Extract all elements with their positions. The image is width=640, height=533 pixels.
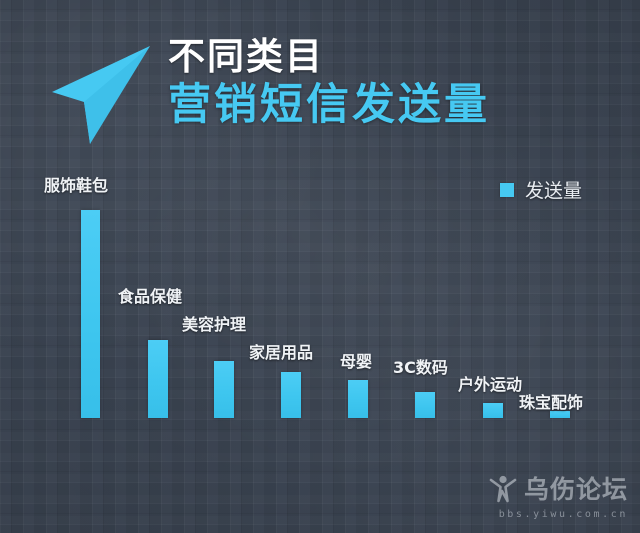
bar-category-label: 美容护理 [182, 311, 246, 335]
bar-category-label: 母婴 [340, 348, 372, 372]
bar-category-label: 服饰鞋包 [44, 172, 108, 196]
bar-column[interactable] [348, 380, 368, 418]
bar-column[interactable] [281, 372, 301, 418]
bar-category-label: 家居用品 [249, 339, 313, 363]
bar-category-label: 户外运动 [458, 371, 522, 395]
bar-column[interactable] [148, 340, 168, 418]
bar-column[interactable] [415, 392, 435, 418]
person-mark-icon [488, 473, 518, 503]
bar-column[interactable] [483, 403, 503, 418]
bar-category-label: 3C数码 [393, 354, 448, 378]
watermark-url: bbs.yiwu.com.cn [499, 509, 628, 520]
watermark: 乌伤论坛 bbs.yiwu.com.cn [488, 470, 628, 520]
watermark-brand-row: 乌伤论坛 [488, 470, 628, 506]
bar-category-label: 珠宝配饰 [519, 389, 583, 413]
bar-column[interactable] [81, 210, 100, 418]
infographic-canvas: 不同类目 营销短信发送量 发送量 服饰鞋包 食品保健 美容护理 家居用品 母婴 … [0, 0, 640, 533]
bar-chart: 服饰鞋包 食品保健 美容护理 家居用品 母婴 3C数码 户外运动 珠宝配饰 [0, 0, 640, 533]
watermark-name: 乌伤论坛 [524, 470, 628, 506]
bar-category-label: 食品保健 [118, 283, 182, 307]
bar-column[interactable] [214, 361, 234, 418]
